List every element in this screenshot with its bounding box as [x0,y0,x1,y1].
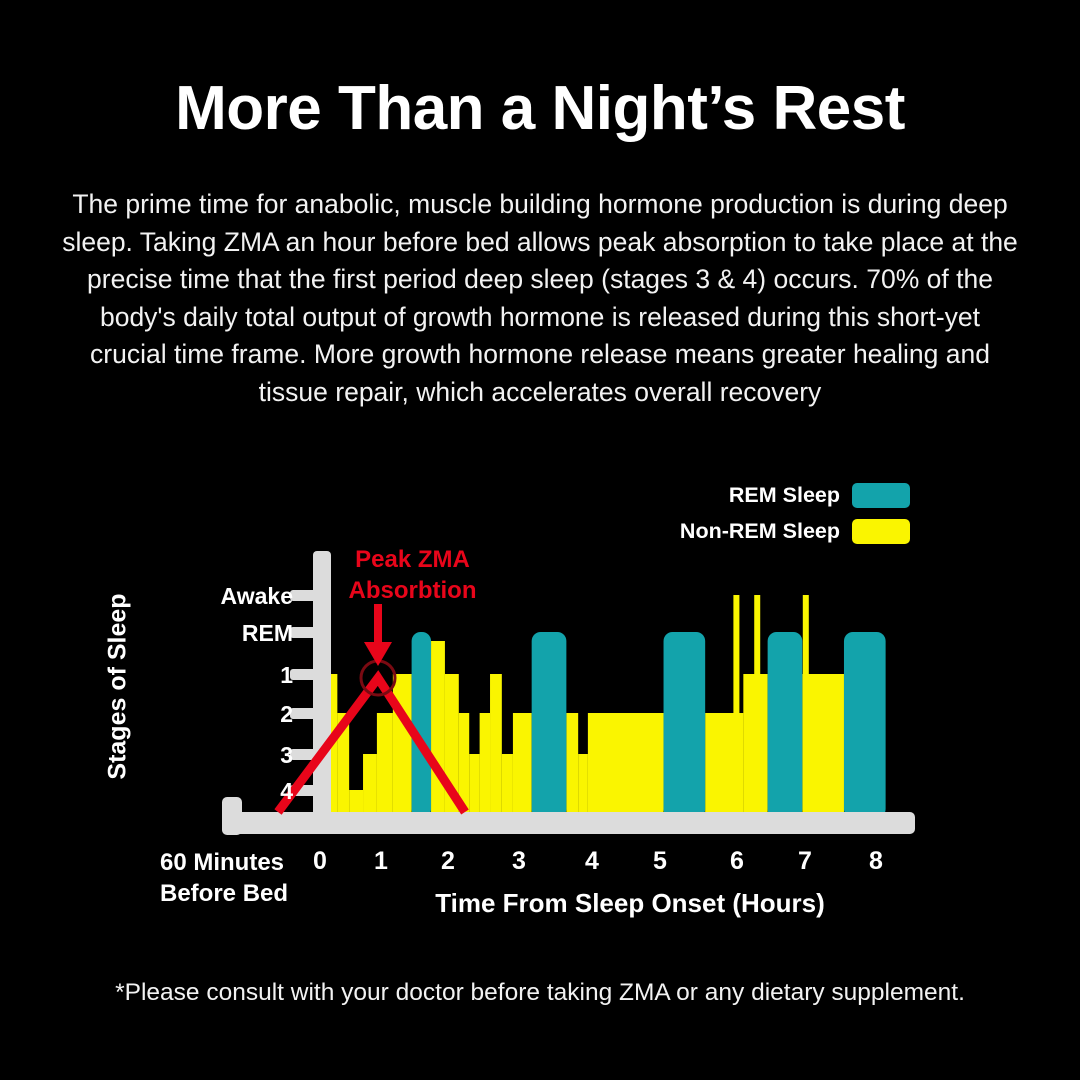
y-axis-tick-4 [290,749,316,760]
non-rem-segment-13 [513,713,532,818]
non-rem-segment-14 [566,713,578,818]
zma-annotation-label: Peak ZMA Absorbtion [330,544,495,606]
non-rem-segment-10 [480,713,490,818]
x-axis-before-bed-label: 60 Minutes Before Bed [160,847,310,909]
y-tick-label-rem: REM [183,620,293,647]
x-tick-label-7: 7 [785,847,825,876]
rem-segment-4 [844,632,886,818]
x-tick-label-3: 3 [499,847,539,876]
y-axis-title: Stages of Sleep [104,557,133,817]
y-tick-label-2: 2 [183,701,293,728]
y-axis-tick-3 [290,708,316,719]
x-tick-label-5: 5 [640,847,680,876]
rem-segment-3 [768,632,803,818]
non-rem-segment-11 [490,674,502,818]
y-tick-label-awake: Awake [183,583,293,610]
non-rem-arousal-spike-2 [803,595,809,818]
x-axis-title: Time From Sleep Onset (Hours) [330,888,930,919]
y-tick-label-3: 3 [183,742,293,769]
non-rem-arousal-spike-1 [754,595,760,818]
rem-segment-1 [532,632,567,818]
y-tick-label-4: 4 [183,778,293,805]
non-rem-segment-15 [578,754,588,818]
non-rem-arousal-spike-0 [733,595,739,818]
x-tick-label-2: 2 [428,847,468,876]
y-tick-label-1: 1 [183,662,293,689]
rem-segment-2 [664,632,706,818]
non-rem-segment-5 [393,674,412,818]
non-rem-segment-4 [377,713,393,818]
non-rem-segment-3 [363,754,377,818]
non-rem-segment-9 [469,754,479,818]
y-axis-spine [313,551,331,819]
hypnogram-chart: Stages of Sleep Awake REM 1 2 3 4 0 1 2 … [0,0,1080,1080]
rem-segment-0 [412,632,431,818]
chart-bars-layer [320,595,886,818]
disclaimer-text: *Please consult with your doctor before … [60,977,1020,1009]
x-axis-baseline [222,812,915,834]
non-rem-segment-16 [588,713,664,818]
infographic-page: More Than a Night’s Rest The prime time … [0,0,1080,1080]
x-tick-label-8: 8 [856,847,896,876]
y-axis-tick-0 [290,590,316,601]
x-tick-label-1: 1 [361,847,401,876]
non-rem-segment-6 [431,641,445,818]
x-tick-label-4: 4 [572,847,612,876]
non-rem-segment-12 [502,754,513,818]
y-axis-tick-1 [290,627,316,638]
x-tick-label-6: 6 [717,847,757,876]
y-axis-tick-2 [290,669,316,680]
